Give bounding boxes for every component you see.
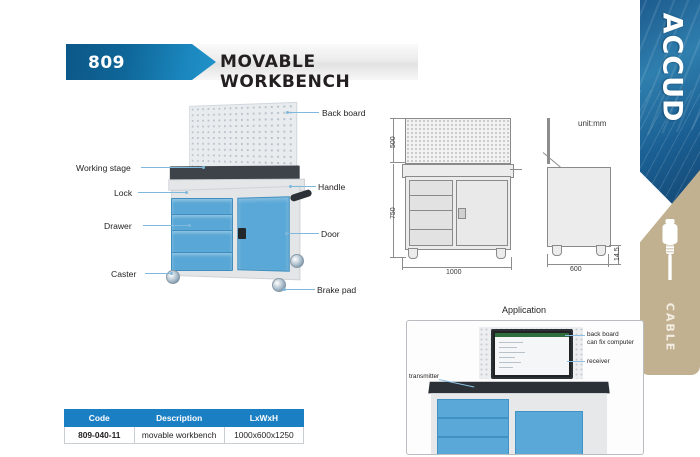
- dim-label-14-5: 14.5: [614, 247, 621, 261]
- side-view-body: [547, 167, 611, 247]
- dim-ext-145-bot: [609, 264, 621, 265]
- leader-dot-handle: [289, 185, 292, 188]
- front-view-pegboard: [405, 118, 511, 164]
- door-lock: [238, 228, 246, 239]
- dim-line-600: [547, 264, 609, 265]
- dim-label-1000: 1000: [446, 269, 462, 276]
- callout-working-stage: Working stage: [76, 163, 131, 173]
- table-header-row: Code Description LxWxH: [65, 410, 304, 427]
- table-row: 809-040-11 movable workbench 1000x600x12…: [65, 427, 304, 444]
- product-code: 809: [88, 53, 125, 73]
- app-leader-receiver: [567, 361, 585, 362]
- callout-door: Door: [321, 229, 340, 239]
- dim-label-500: 500: [390, 136, 397, 148]
- table-header-code: Code: [65, 410, 135, 427]
- leader-dot-back-board: [286, 111, 289, 114]
- cable-connector-icon: [659, 218, 681, 289]
- drawer-2: [171, 214, 233, 231]
- page-title: MOVABLE WORKBENCH: [220, 52, 418, 92]
- callout-back-board: Back board: [322, 108, 365, 118]
- app-label-back-board: back board can fix computer: [587, 331, 634, 347]
- product-illustration: [150, 100, 320, 305]
- dim-ext-600-left: [547, 254, 548, 267]
- app-screen-line-4: [499, 357, 515, 358]
- caster-rear-right: [290, 254, 304, 268]
- dim-ext-600-right: [608, 254, 609, 267]
- app-cabinet-door: [515, 411, 583, 455]
- app-screen-line-6: [499, 367, 513, 368]
- side-view-caster-right: [596, 245, 606, 256]
- app-screen-line-2: [499, 347, 517, 348]
- front-view-handle: [510, 169, 522, 170]
- leader-drawer: [143, 225, 189, 226]
- app-drawer-1: [437, 399, 509, 418]
- leader-door: [288, 233, 319, 234]
- leader-dot-lock: [185, 191, 188, 194]
- spec-table: Code Description LxWxH 809-040-11 movabl…: [64, 409, 304, 444]
- callout-caster: Caster: [111, 269, 136, 279]
- dim-line-1000: [402, 267, 512, 268]
- page-header: 809 MOVABLE WORKBENCH: [66, 44, 418, 80]
- front-view-door-lock: [458, 208, 466, 219]
- application-section: Application back board can fix computer: [406, 305, 642, 453]
- app-leader-back-board: [565, 335, 585, 336]
- drawer-4: [171, 252, 233, 271]
- leader-dot-caster: [170, 272, 173, 275]
- unit-note: unit:mm: [578, 119, 606, 128]
- front-view-drawer-1: [409, 180, 453, 196]
- cell-code: 809-040-11: [65, 427, 135, 444]
- app-screen-titlebar: [495, 333, 569, 337]
- front-view-drawer-4: [409, 229, 453, 246]
- app-label-receiver: receiver: [587, 358, 610, 366]
- technical-drawings: 500 750 1000 600 14.5 unit:mm: [380, 112, 642, 287]
- leader-dot-working-stage: [202, 166, 205, 169]
- front-view-drawer-3: [409, 210, 453, 230]
- app-label-transmitter: transmitter: [409, 373, 439, 381]
- front-view-drawer-2: [409, 195, 453, 211]
- app-label-back-board-line1: back board: [587, 331, 619, 338]
- pegboard-back-board: [189, 102, 297, 174]
- dim-ext-1000-left: [402, 257, 403, 270]
- leader-handle: [292, 186, 316, 187]
- leader-working-stage: [141, 167, 203, 168]
- app-monitor-screen: [495, 333, 569, 375]
- cell-description: movable workbench: [134, 427, 224, 444]
- app-screen-line-3: [499, 352, 525, 353]
- leader-back-board: [289, 112, 319, 113]
- drawer-3: [171, 230, 233, 253]
- dim-label-600: 600: [570, 266, 582, 273]
- leader-dot-door: [285, 232, 288, 235]
- drawer-1: [171, 198, 233, 215]
- leader-dot-drawer: [188, 224, 191, 227]
- cell-size: 1000x600x1250: [224, 427, 303, 444]
- leader-brake-pad: [286, 289, 315, 290]
- callout-brake-pad: Brake pad: [317, 285, 356, 295]
- side-view-caster-left: [552, 245, 562, 256]
- app-screen-line-5: [499, 362, 521, 363]
- table-header-size: LxWxH: [224, 410, 303, 427]
- app-label-back-board-line2: can fix computer: [587, 339, 634, 346]
- leader-caster: [145, 273, 171, 274]
- application-photo-panel: back board can fix computer receiver tra…: [406, 320, 644, 455]
- app-drawer-3: [437, 437, 509, 455]
- callout-handle: Handle: [318, 182, 345, 192]
- app-screen-line-1: [499, 342, 523, 343]
- dim-label-750: 750: [390, 207, 397, 219]
- rail-tab-inner: CABLE: [640, 280, 700, 375]
- front-view-caster-left: [408, 248, 418, 259]
- leader-dot-brake-pad: [283, 288, 286, 291]
- brand-logo-accud: ACCUD: [657, 8, 688, 128]
- callout-drawer: Drawer: [104, 221, 132, 231]
- application-title: Application: [406, 305, 642, 315]
- dim-ext-145-top: [609, 245, 621, 246]
- leader-lock: [138, 192, 186, 193]
- app-monitor: [491, 329, 573, 379]
- dim-ext-1000-right: [511, 257, 512, 270]
- table-header-description: Description: [134, 410, 224, 427]
- brand-rail: ACCUD CABLE: [640, 0, 700, 457]
- front-view-caster-right: [496, 248, 506, 259]
- app-drawer-2: [437, 418, 509, 437]
- callout-lock: Lock: [114, 188, 132, 198]
- sidebar-tab-cable[interactable]: CABLE: [640, 280, 700, 375]
- rail-tab-label-text: CABLE: [664, 303, 677, 353]
